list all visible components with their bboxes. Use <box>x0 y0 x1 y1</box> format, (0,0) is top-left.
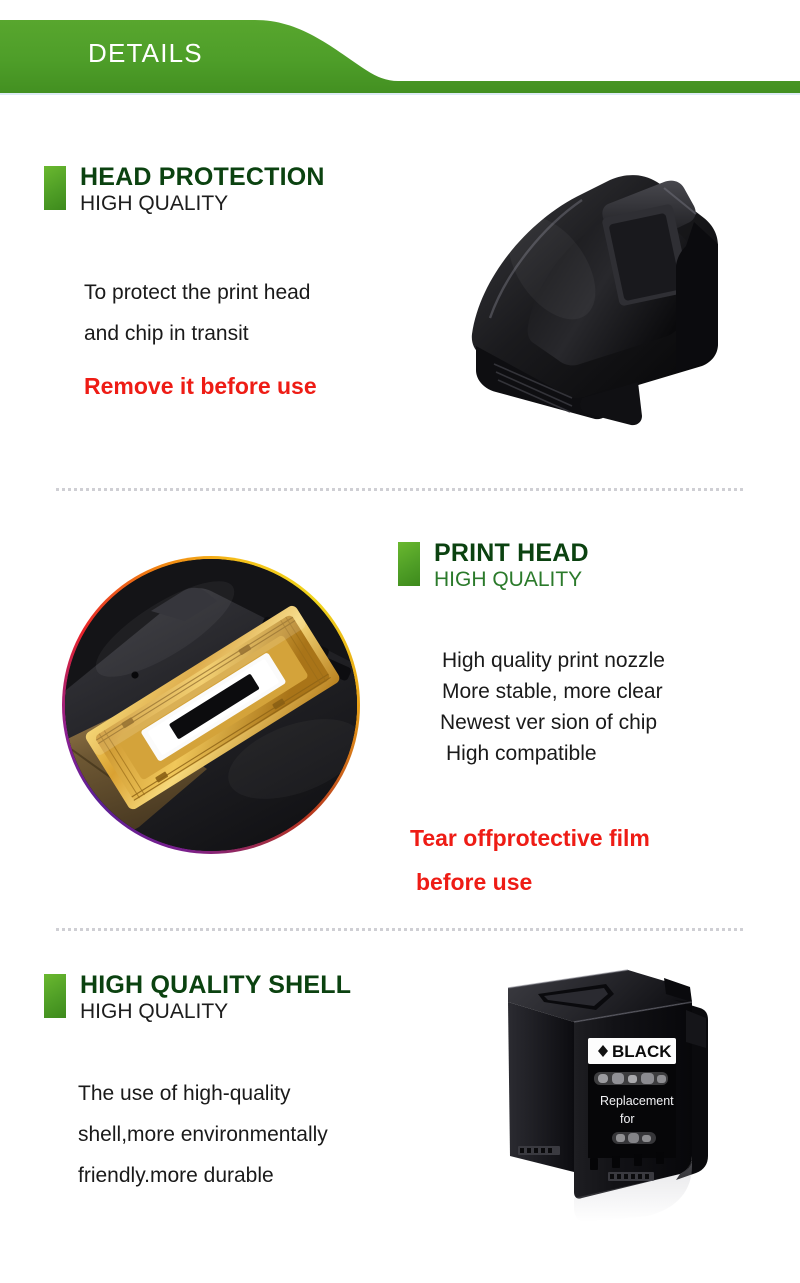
section-divider <box>56 928 744 931</box>
body-line: and chip in transit <box>84 313 310 354</box>
product-detail-page: DETAILS HEAD PROTECTION HIGH QUALITY To … <box>0 0 800 1283</box>
cartridge-label-for: for <box>620 1112 635 1126</box>
body-line: The use of high-quality <box>78 1073 328 1114</box>
section-heading-high-quality-shell: HIGH QUALITY SHELL HIGH QUALITY <box>44 972 351 1026</box>
section-body-high-quality-shell: The use of high-quality shell,more envir… <box>78 1073 328 1196</box>
body-line: friendly.more durable <box>78 1155 328 1196</box>
ink-cartridge-image: BLACK Replacement for <box>478 960 714 1228</box>
body-line: Newest ver sion of chip <box>440 707 665 738</box>
section-divider <box>56 488 744 491</box>
section-subtitle: HIGH QUALITY <box>434 567 589 593</box>
warning-line: before use <box>416 860 650 904</box>
section-title: PRINT HEAD <box>434 540 589 566</box>
section-heading-print-head: PRINT HEAD HIGH QUALITY <box>398 540 589 594</box>
section-title: HEAD PROTECTION <box>80 164 325 190</box>
section-subtitle: HIGH QUALITY <box>80 999 351 1025</box>
printhead-protection-clip-image <box>432 148 744 428</box>
body-line: To protect the print head <box>84 272 310 313</box>
warning-head-protection: Remove it before use <box>84 364 317 408</box>
warning-print-head: Tear offprotective film before use <box>410 816 650 904</box>
section-body-head-protection: To protect the print head and chip in tr… <box>84 272 310 354</box>
section-title: HIGH QUALITY SHELL <box>80 972 351 998</box>
cartridge-label-black: BLACK <box>612 1042 672 1061</box>
details-banner: DETAILS <box>0 0 800 108</box>
warning-line: Tear offprotective film <box>410 816 650 860</box>
warning-line: Remove it before use <box>84 364 317 408</box>
body-line: High quality print nozzle <box>442 645 665 676</box>
print-head-nozzle-closeup-image <box>62 556 360 854</box>
section-heading-head-protection: HEAD PROTECTION HIGH QUALITY <box>44 164 325 218</box>
accent-bar-icon <box>44 166 66 210</box>
body-line: High compatible <box>446 738 665 769</box>
body-line: shell,more environmentally <box>78 1114 328 1155</box>
cartridge-label-replacement: Replacement <box>600 1094 674 1108</box>
banner-title: DETAILS <box>88 40 203 66</box>
body-line: More stable, more clear <box>442 676 665 707</box>
section-subtitle: HIGH QUALITY <box>80 191 325 217</box>
accent-bar-icon <box>398 542 420 586</box>
accent-bar-icon <box>44 974 66 1018</box>
section-body-print-head: High quality print nozzle More stable, m… <box>440 645 665 769</box>
